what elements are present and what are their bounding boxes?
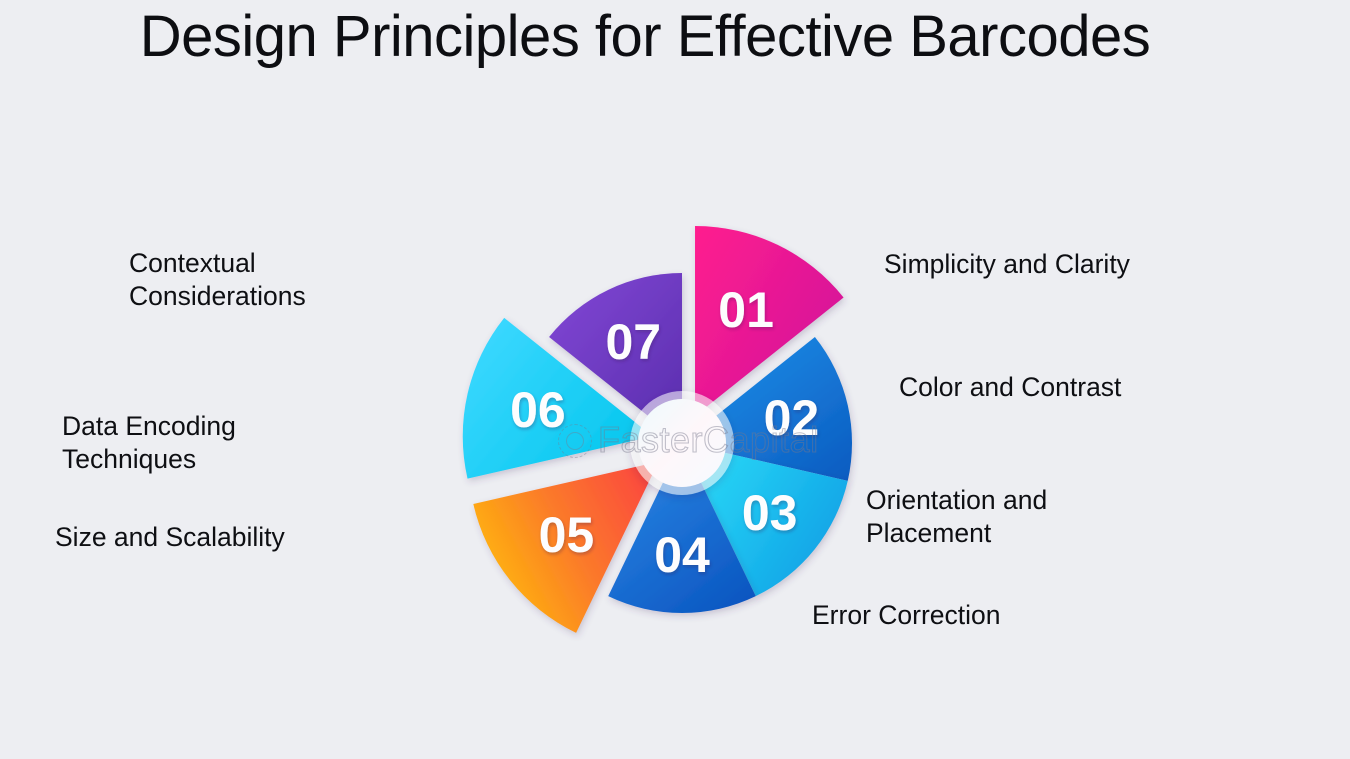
callout-label-simplicity-and-clarity: Simplicity and Clarity <box>884 248 1130 281</box>
callout-label-error-correction: Error Correction <box>812 599 1001 632</box>
segment-number-02: 02 <box>764 390 820 446</box>
segment-number-05: 05 <box>539 507 595 563</box>
callout-label-color-and-contrast: Color and Contrast <box>899 371 1121 404</box>
segment-number-04: 04 <box>654 527 710 583</box>
pie-wheel-diagram: 01020304050607 Simplicity and Clarity Co… <box>0 0 1350 759</box>
callout-label-orientation-and-placement: Orientation and Placement <box>866 484 1047 550</box>
callout-label-size-and-scalability: Size and Scalability <box>55 521 285 554</box>
callout-label-contextual-considerations: Contextual Considerations <box>129 247 306 313</box>
callout-label-data-encoding-techniques: Data Encoding Techniques <box>62 410 236 476</box>
wheel-hub <box>630 391 734 495</box>
segment-number-06: 06 <box>510 382 566 438</box>
segment-number-03: 03 <box>742 485 798 541</box>
segment-number-01: 01 <box>718 282 774 338</box>
segment-number-07: 07 <box>605 314 661 370</box>
